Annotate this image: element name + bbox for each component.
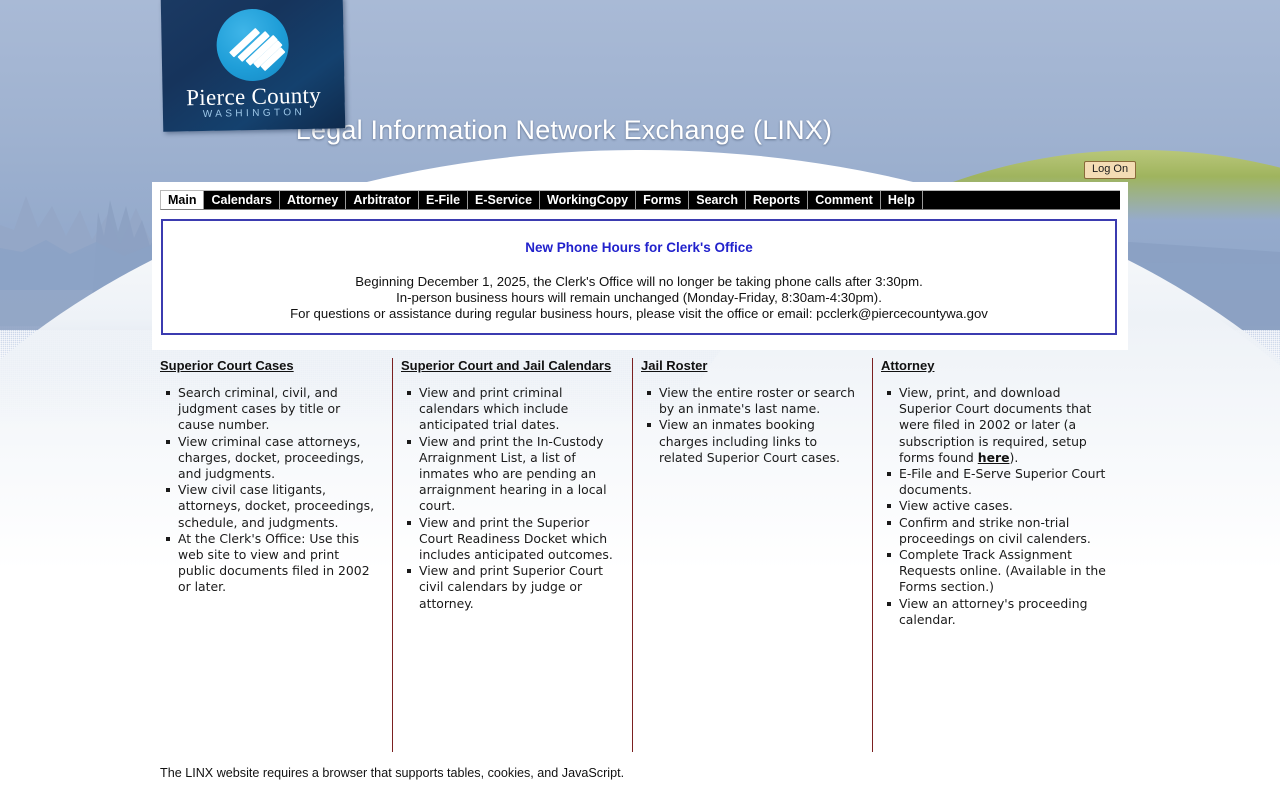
column-heading[interactable]: Superior Court Cases [160,358,378,373]
pierce-county-circle-logo-icon [216,8,289,81]
linx-home-page: Legal Information Network Exchange (LINX… [0,0,1280,800]
nav-item-search[interactable]: Search [689,191,746,209]
list-item: View and print the In-Custody Arraignmen… [419,434,618,515]
feature-columns: Superior Court CasesSearch criminal, civ… [152,358,1128,752]
list-item: View and print criminal calendars which … [419,385,618,434]
list-item: View active cases. [899,498,1114,514]
list-item: View and print Superior Court civil cale… [419,563,618,612]
column-list: View the entire roster or search by an i… [641,385,858,466]
column-list: View and print criminal calendars which … [401,385,618,612]
nav-item-reports[interactable]: Reports [746,191,808,209]
nav-item-e-service[interactable]: E-Service [468,191,540,209]
nav-item-main[interactable]: Main [161,191,204,209]
list-item: At the Clerk's Office: Use this web site… [178,531,378,596]
list-item: View the entire roster or search by an i… [659,385,858,417]
main-navigation: MainCalendarsAttorneyArbitratorE-FileE-S… [160,190,1120,210]
announcement-box: New Phone Hours for Clerk's Office Begin… [161,219,1117,335]
list-item: View an inmates booking charges includin… [659,417,858,466]
announcement-line-1: Beginning December 1, 2025, the Clerk's … [163,274,1115,290]
list-item: View, print, and download Superior Court… [899,385,1114,466]
logo-subtitle: WASHINGTON [163,106,345,120]
nav-item-help[interactable]: Help [881,191,923,209]
nav-item-forms[interactable]: Forms [636,191,689,209]
list-item: Confirm and strike non-trial proceedings… [899,515,1114,547]
nav-filler [923,191,1120,209]
column-list: Search criminal, civil, and judgment cas… [160,385,378,596]
list-item: E-File and E-Serve Superior Court docume… [899,466,1114,498]
footer-note: The LINX website requires a browser that… [160,766,624,780]
pierce-county-logo[interactable]: Pierce County WASHINGTON [161,0,346,132]
nav-item-workingcopy[interactable]: WorkingCopy [540,191,636,209]
column-heading[interactable]: Attorney [881,358,1114,373]
feature-column-3: Jail RosterView the entire roster or sea… [632,358,872,752]
nav-item-calendars[interactable]: Calendars [204,191,279,209]
list-item: View an attorney's proceeding calendar. [899,596,1114,628]
announcement-title: New Phone Hours for Clerk's Office [163,240,1115,255]
announcement-line-3: For questions or assistance during regul… [163,306,1115,322]
nav-item-attorney[interactable]: Attorney [280,191,346,209]
nav-item-arbitrator[interactable]: Arbitrator [346,191,419,209]
list-item: Complete Track Assignment Requests onlin… [899,547,1114,596]
nav-item-e-file[interactable]: E-File [419,191,468,209]
feature-column-4: AttorneyView, print, and download Superi… [872,358,1128,752]
column-heading[interactable]: Jail Roster [641,358,858,373]
list-item: View criminal case attorneys, charges, d… [178,434,378,483]
list-item: Search criminal, civil, and judgment cas… [178,385,378,434]
here-link[interactable]: here [978,450,1010,465]
list-item: View civil case litigants, attorneys, do… [178,482,378,531]
log-on-button[interactable]: Log On [1084,161,1136,179]
nav-item-comment[interactable]: Comment [808,191,881,209]
feature-column-1: Superior Court CasesSearch criminal, civ… [152,358,392,752]
list-item: View and print the Superior Court Readin… [419,515,618,564]
feature-column-2: Superior Court and Jail CalendarsView an… [392,358,632,752]
column-heading[interactable]: Superior Court and Jail Calendars [401,358,618,373]
announcement-line-2: In-person business hours will remain unc… [163,290,1115,306]
column-list: View, print, and download Superior Court… [881,385,1114,628]
